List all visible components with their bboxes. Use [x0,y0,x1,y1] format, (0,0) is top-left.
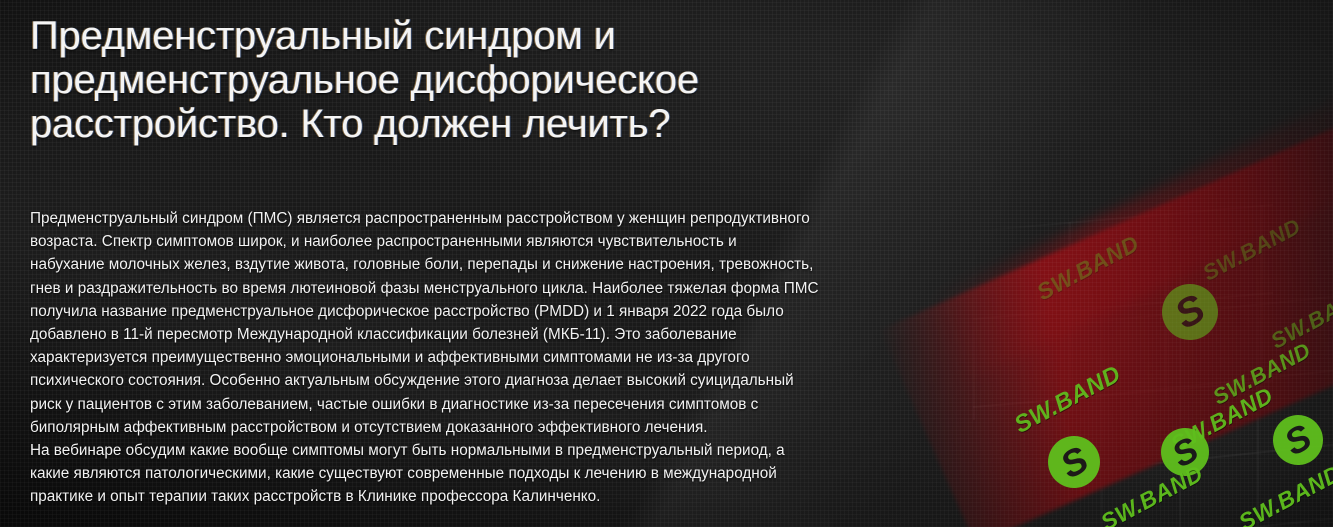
paragraph-1-line-1: Предменструальный синдром (ПМС) является… [30,207,890,230]
paragraph-2-line-3: практике и опыт терапии таких расстройст… [30,485,890,508]
paragraph-1-line-7: характеризуется преимущественно эмоциона… [30,346,890,369]
paragraph-1-line-3: набухание молочных желез, вздутие живота… [30,253,890,276]
slide-body-text: Предменструальный синдром (ПМС) является… [30,207,890,509]
paragraph-1-line-4: гнев и раздражительность во время лютеин… [30,277,890,300]
slide-title-line-3: расстройство. Кто должен лечить? [30,102,910,146]
paragraph-1-line-8: психического состояния. Особенно актуаль… [30,369,890,392]
paragraph-1-line-5: получила название предменструальное дисф… [30,300,890,323]
slide-content: Предменструальный синдром ипредменструал… [0,0,1333,527]
paragraph-1-line-2: возраста. Спектр симптомов широк, и наиб… [30,230,890,253]
slide-title: Предменструальный синдром ипредменструал… [30,14,910,146]
paragraph-2-line-2: какие являются патологическими, какие су… [30,462,890,485]
presentation-slide: SW.BANDSW.BANDSSW.BANDSW.BANDSW.BANDSSSS… [0,0,1333,527]
slide-title-line-2: предменструальное дисфорическое [30,58,910,102]
slide-title-line-1: Предменструальный синдром и [30,14,910,58]
paragraph-2: На вебинаре обсудим какие вообще симптом… [30,439,890,509]
paragraph-1-line-9: риск у пациентов с этим заболеванием, ча… [30,393,890,416]
paragraph-2-line-1: На вебинаре обсудим какие вообще симптом… [30,439,890,462]
paragraph-1: Предменструальный синдром (ПМС) является… [30,207,890,439]
paragraph-1-line-6: добавлено в 11-й пересмотр Международной… [30,323,890,346]
paragraph-1-line-10: биполярным аффективным расстройством и о… [30,416,890,439]
